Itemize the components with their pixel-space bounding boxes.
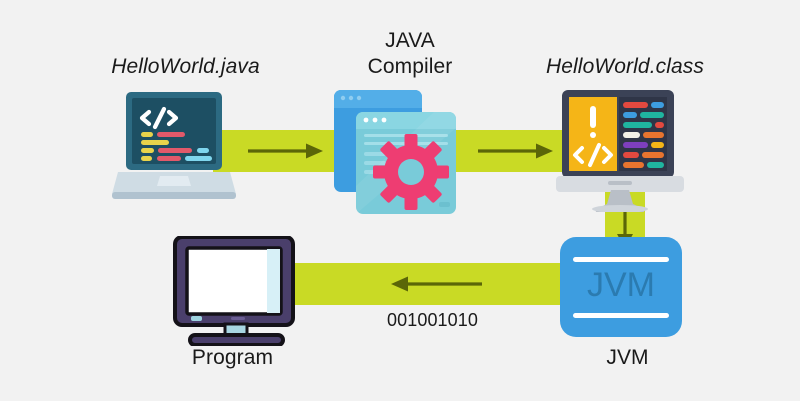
arrow-right-icon-2 — [478, 140, 554, 162]
arrow-left-icon — [390, 273, 482, 295]
monitor-bytecode-icon — [556, 90, 684, 212]
arrow-right-icon-1 — [248, 140, 324, 162]
laptop-source-code-icon — [112, 92, 236, 204]
label-binary-stream: 001001010 — [320, 310, 545, 332]
diagram-canvas: JVM HelloWorld.java JAVA Compiler HelloW… — [0, 0, 800, 401]
label-jvm: JVM — [545, 345, 710, 371]
label-class-file: HelloWorld.class — [495, 54, 755, 80]
label-program: Program — [150, 345, 315, 371]
compiler-windows-gear-icon — [334, 90, 460, 216]
monitor-program-icon — [163, 236, 313, 346]
jvm-box-label: JVM — [587, 266, 655, 304]
label-java-source-file: HelloWorld.java — [58, 54, 313, 80]
jvm-box-icon: JVM — [560, 237, 682, 337]
label-java-compiler: JAVA Compiler — [300, 28, 520, 79]
